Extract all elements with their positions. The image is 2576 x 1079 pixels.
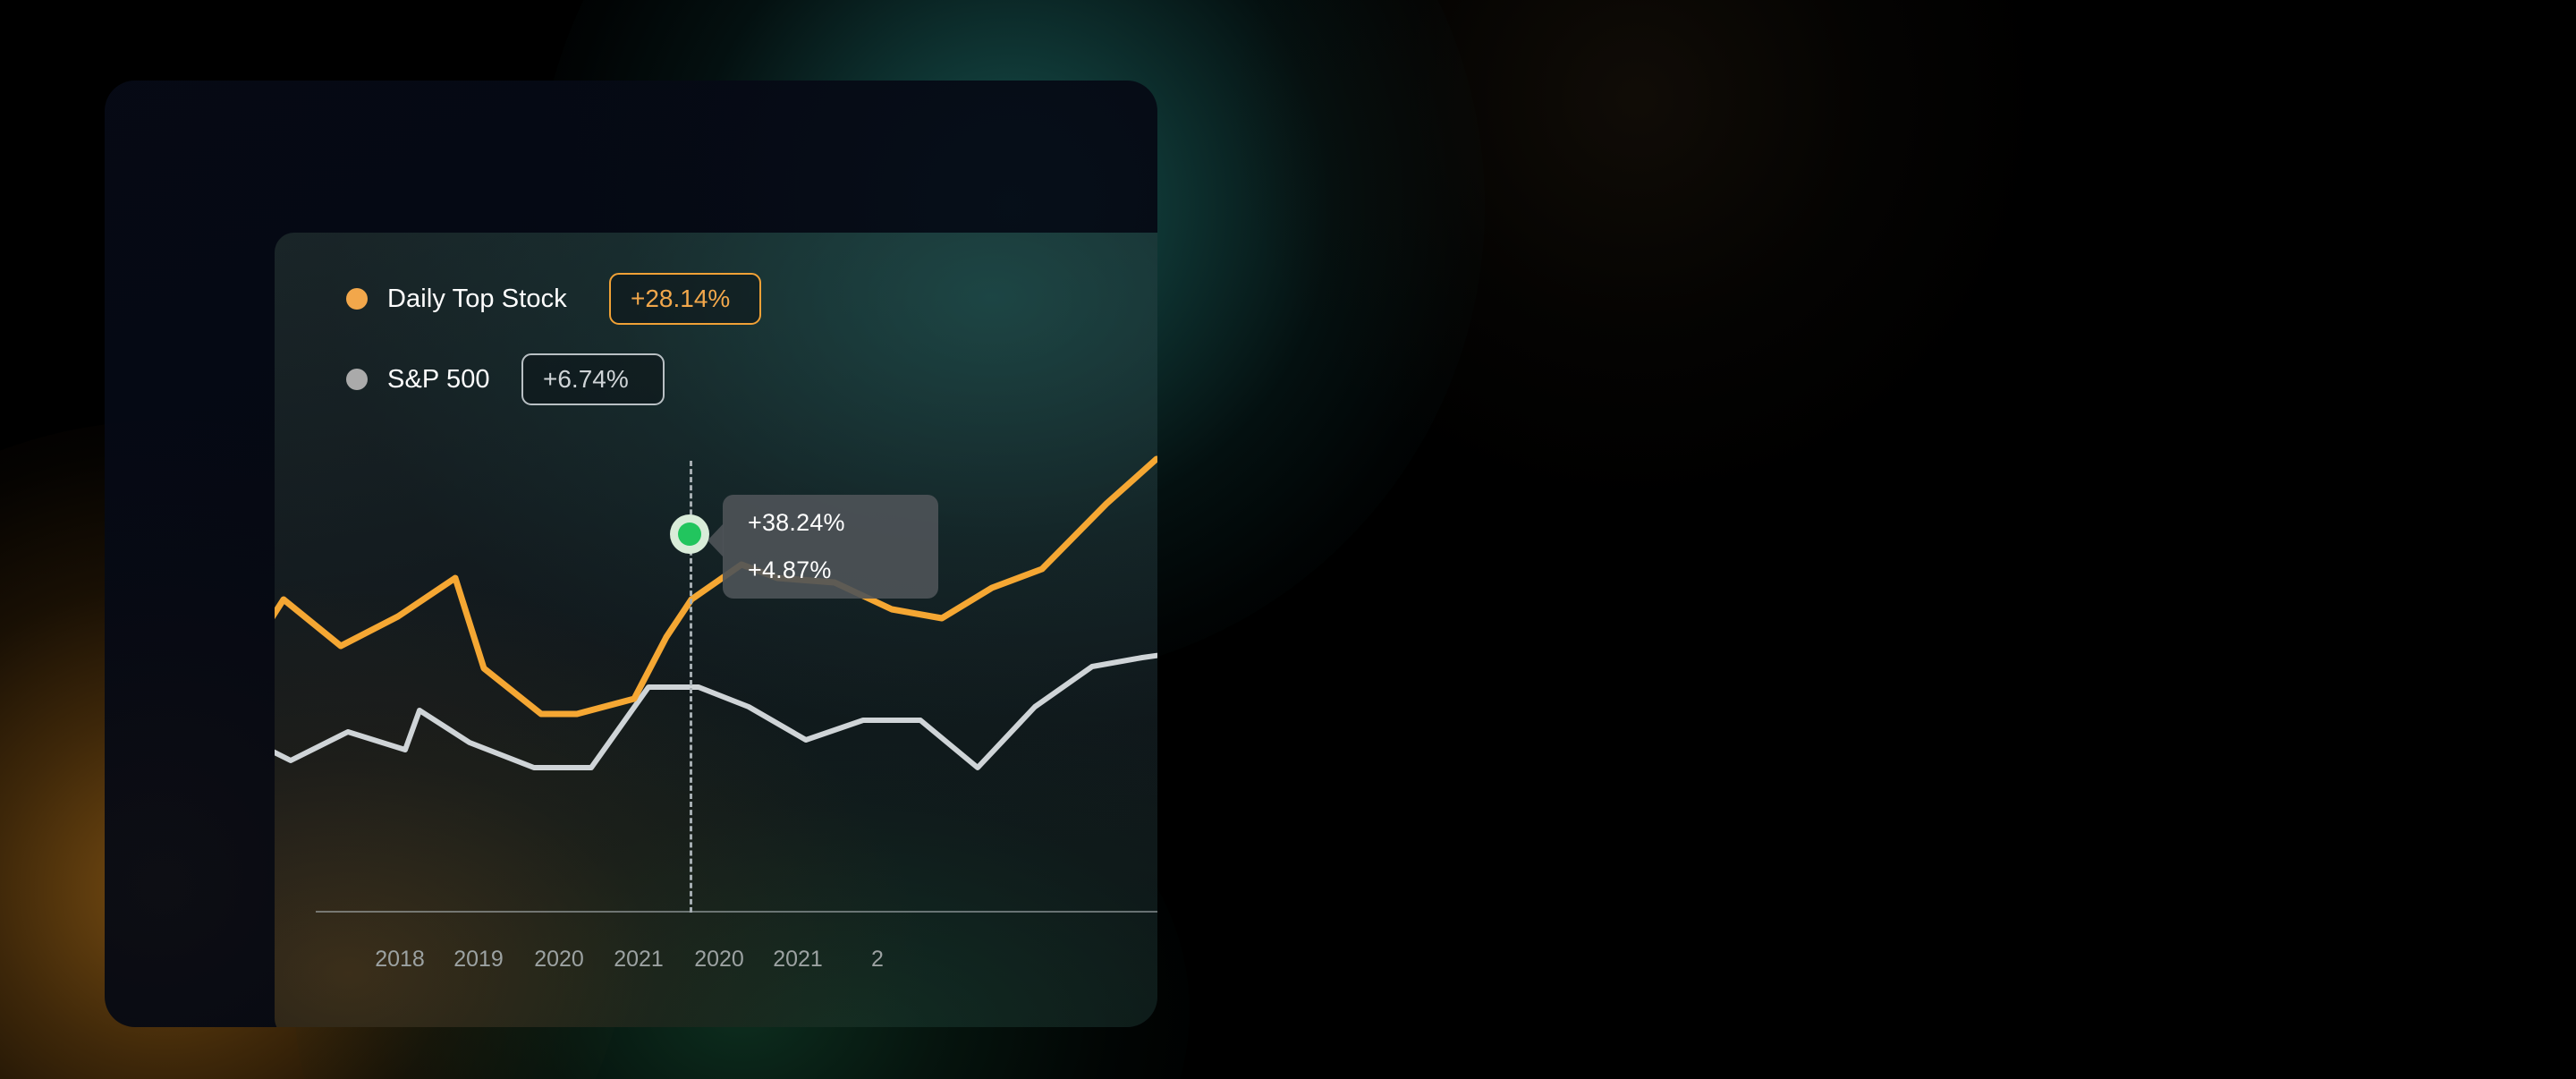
x-axis-labels: 2018 2019 2020 2021 2020 2021 2 [275, 947, 1157, 991]
x-tick-label: 2021 [614, 947, 664, 973]
x-tick-label: 2020 [534, 947, 584, 973]
performance-chart-card: 2018 2019 2020 2021 2020 2021 2 +38.24% … [275, 233, 1157, 1027]
tooltip-primary-value: +38.24% [748, 511, 938, 535]
x-axis-baseline [316, 911, 1157, 913]
legend-label-daily-top-stock: Daily Top Stock [387, 285, 591, 314]
legend-badge-sp-500: +6.74% [521, 353, 665, 405]
x-tick-label: 2 [871, 947, 884, 973]
tooltip-arrow-icon [708, 523, 724, 557]
legend-item-sp-500[interactable]: S&P 500 +6.74% [346, 353, 761, 405]
legend-label-sp-500: S&P 500 [387, 365, 504, 395]
series-line-sp-500 [275, 650, 1157, 768]
chart-tooltip: +38.24% +4.87% [723, 495, 938, 599]
x-tick-label: 2019 [453, 947, 504, 973]
legend-badge-daily-top-stock: +28.14% [609, 273, 761, 325]
right-ambient-glow [1234, 0, 2039, 501]
marker-core-dot [678, 523, 701, 546]
x-tick-label: 2020 [694, 947, 744, 973]
legend-item-daily-top-stock[interactable]: Daily Top Stock +28.14% [346, 273, 761, 325]
x-tick-label: 2021 [773, 947, 823, 973]
x-tick-label: 2018 [375, 947, 425, 973]
tooltip-secondary-value: +4.87% [748, 558, 938, 582]
chart-legend: Daily Top Stock +28.14% S&P 500 +6.74% [346, 273, 761, 405]
legend-dot-icon-daily-top-stock [346, 288, 368, 310]
series-line-daily-top-stock [275, 459, 1157, 714]
legend-dot-icon-sp-500 [346, 369, 368, 390]
hover-point-marker[interactable] [670, 514, 709, 554]
screenshot-root: 2018 2019 2020 2021 2020 2021 2 +38.24% … [0, 0, 2576, 1079]
chart-panel: 2018 2019 2020 2021 2020 2021 2 +38.24% … [105, 81, 1157, 1027]
